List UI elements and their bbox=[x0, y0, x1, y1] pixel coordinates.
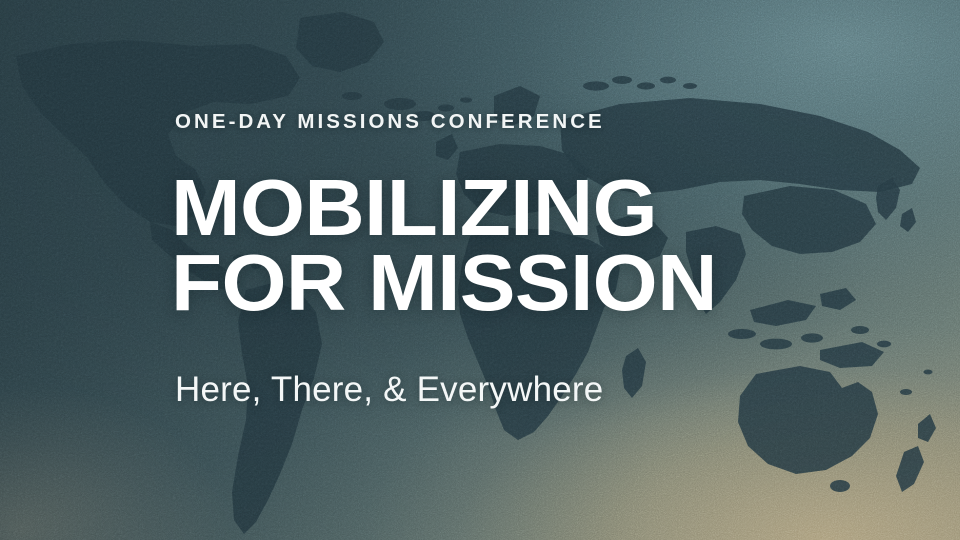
subtitle: Here, There, & Everywhere bbox=[175, 371, 603, 410]
event-kicker: ONE-DAY MISSIONS CONFERENCE bbox=[175, 112, 605, 133]
page-title-line-2: FOR MISSION bbox=[171, 246, 717, 321]
page-title: MOBILIZING FOR MISSION bbox=[171, 171, 693, 321]
page-title-line-1: MOBILIZING bbox=[171, 171, 717, 246]
text-block: ONE-DAY MISSIONS CONFERENCE MOBILIZING F… bbox=[175, 0, 895, 540]
conference-title-slide: ONE-DAY MISSIONS CONFERENCE MOBILIZING F… bbox=[0, 0, 960, 540]
